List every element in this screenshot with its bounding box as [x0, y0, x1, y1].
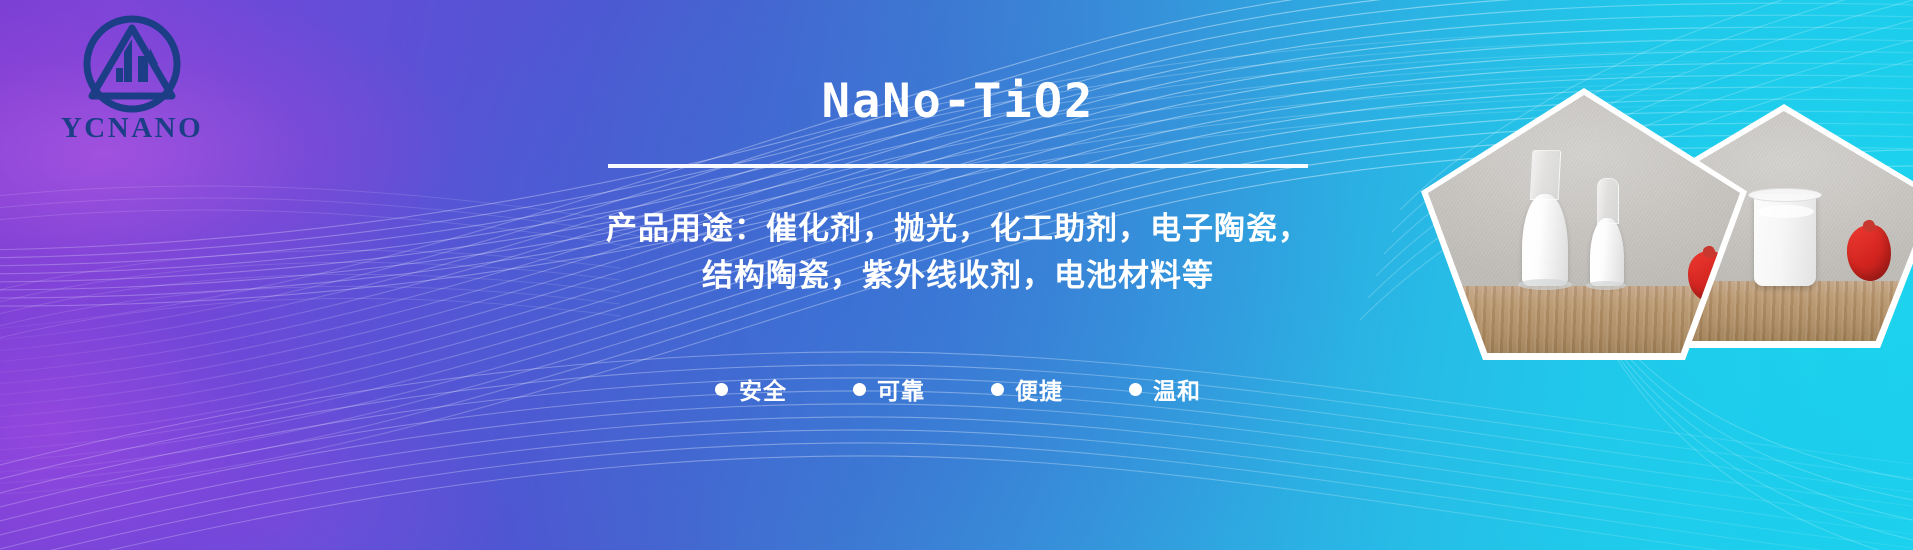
feature-label: 温和 [1153, 372, 1201, 406]
usage-line-2: 结构陶瓷，紫外线收剂，电池材料等 [528, 252, 1388, 299]
pentagon-photo-vases[interactable] [1421, 88, 1747, 360]
bullet-dot-icon [991, 383, 1004, 396]
bullet-dot-icon [1129, 383, 1142, 396]
feature-item-reliable: 可靠 [853, 372, 925, 406]
product-usage-text: 产品用途：催化剂，抛光，化工助剂，电子陶瓷， 结构陶瓷，紫外线收剂，电池材料等 [528, 205, 1388, 299]
beaker-image [1754, 194, 1816, 286]
page-title: NaNo-TiO2 [498, 78, 1418, 125]
feature-label: 便捷 [1015, 372, 1063, 406]
product-photo-group [1353, 0, 1913, 550]
brand-logo[interactable]: YCNANO [42, 12, 222, 145]
feature-list: 安全 可靠 便捷 温和 [498, 372, 1418, 406]
vase-tall-image [1522, 154, 1568, 286]
brand-wordmark: YCNANO [42, 112, 222, 145]
product-banner: YCNANO NaNo-TiO2 产品用途：催化剂，抛光，化工助剂，电子陶瓷， … [0, 0, 1913, 550]
feature-label: 可靠 [877, 372, 925, 406]
vase-short-image [1590, 178, 1624, 286]
title-divider [608, 164, 1308, 168]
feature-item-mild: 温和 [1129, 372, 1201, 406]
feature-item-safe: 安全 [715, 372, 787, 406]
usage-line-1: 产品用途：催化剂，抛光，化工助剂，电子陶瓷， [528, 205, 1388, 252]
feature-item-convenient: 便捷 [991, 372, 1063, 406]
bullet-dot-icon [715, 383, 728, 396]
ycnano-triangle-circle-logo-icon [80, 12, 184, 116]
feature-label: 安全 [739, 372, 787, 406]
bullet-dot-icon [853, 383, 866, 396]
banner-content: NaNo-TiO2 产品用途：催化剂，抛光，化工助剂，电子陶瓷， 结构陶瓷，紫外… [498, 0, 1418, 550]
